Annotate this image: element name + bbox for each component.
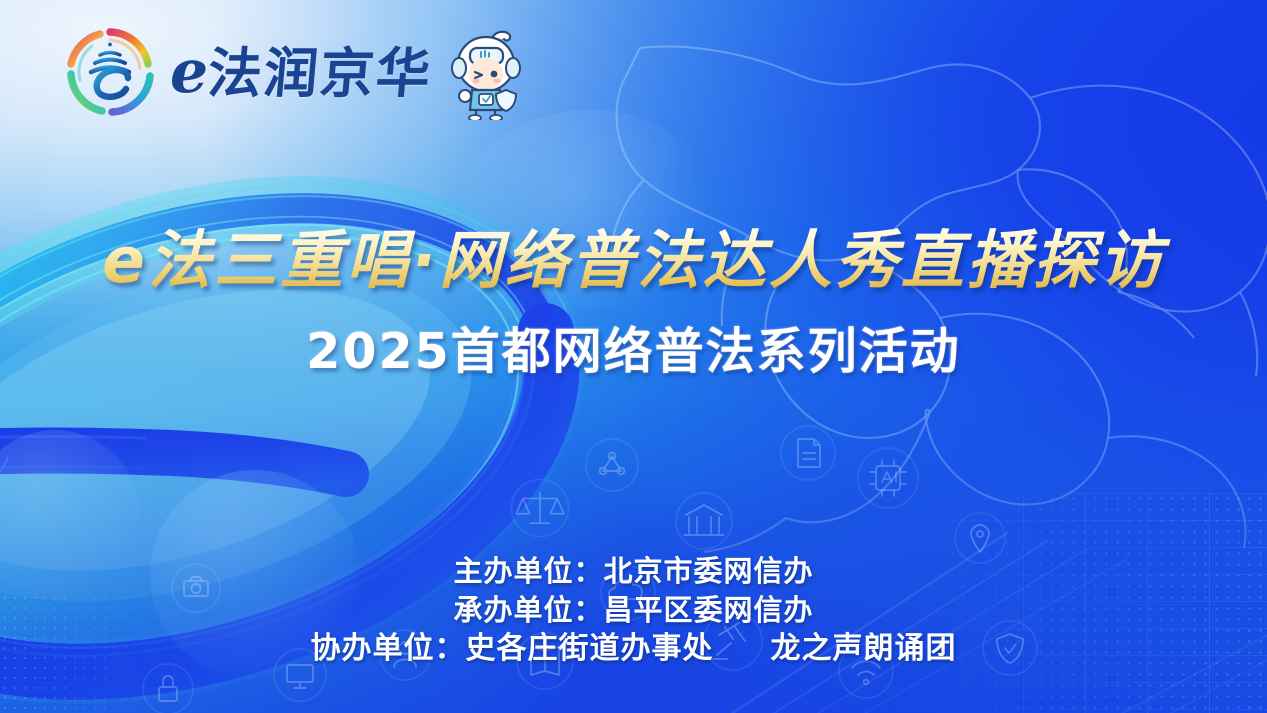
lock-icon	[143, 664, 193, 713]
credit-coorganizer-b: 龙之声朗诵团	[770, 631, 956, 666]
title-block: e法三重唱·网络普法达人秀直播探访 2025首都网络普法系列活动	[0, 228, 1267, 383]
credit-line-host: 主办单位：北京市委网信办	[0, 552, 1267, 591]
credit-coorganizer-a: 协办单位：史各庄街道办事处	[311, 631, 714, 666]
credit-line-coorganizer: 协办单位：史各庄街道办事处 龙之声朗诵团	[0, 629, 1267, 669]
scales-of-justice-icon	[512, 480, 569, 537]
chip-ai-icon	[858, 448, 918, 508]
poster-canvas: e 法润京华	[0, 0, 1267, 713]
logo-e-mark: e	[170, 42, 206, 102]
credit-line-organizer: 承办单位：昌平区委网信办	[0, 591, 1267, 630]
organizer-credits: 主办单位：北京市委网信办 承办单位：昌平区委网信办 协办单位：史各庄街道办事处 …	[0, 552, 1267, 669]
sub-title: 2025首都网络普法系列活动	[0, 312, 1267, 383]
network-nodes-icon	[586, 439, 638, 491]
government-building-icon	[676, 493, 732, 549]
temple-of-heaven-rainbow-emblem	[62, 24, 158, 120]
robot-astronaut-mascot	[450, 24, 526, 120]
main-title: e法三重唱·网络普法达人秀直播探访	[0, 228, 1267, 294]
logo-wordmark: e 法润京华	[170, 42, 432, 102]
logo-chinese-text: 法润京华	[206, 47, 435, 101]
brand-lockup[interactable]: e 法润京华	[62, 24, 526, 120]
document-icon	[781, 426, 835, 480]
